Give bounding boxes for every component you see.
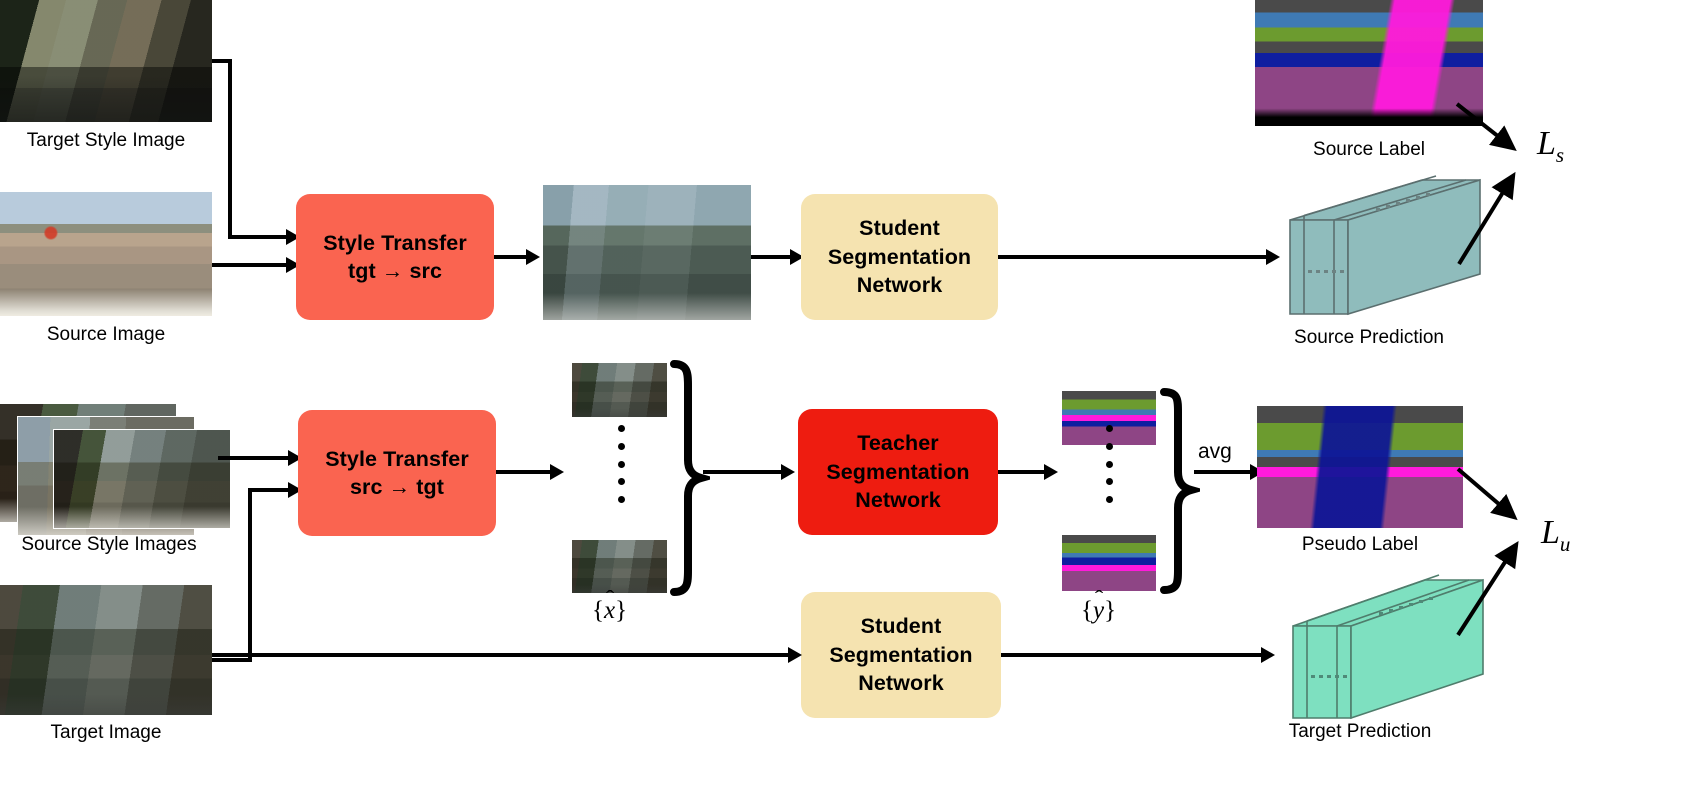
student-bottom-line3: Network — [858, 669, 944, 697]
arrowhead-student-bottom-to-target-prediction — [1261, 647, 1275, 663]
source-style-image-front[interactable] — [54, 430, 230, 528]
loss-unsupervised-symbol: L — [1541, 514, 1560, 551]
arrow-styled-stack-to-teacher — [703, 470, 783, 474]
style-transfer-tgt-to-src-box[interactable]: Style Transfer tgt → src — [296, 194, 494, 320]
target-image[interactable] — [0, 585, 212, 715]
loss-supervised-symbol: L — [1537, 125, 1556, 162]
styled-target-thumb-bottom[interactable] — [572, 540, 667, 593]
arrow-targetimage-to-styletransfer-h2 — [248, 488, 290, 492]
teacher-prediction-thumb-bottom[interactable] — [1062, 535, 1156, 591]
target-style-image-caption: Target Style Image — [0, 130, 212, 152]
arrowhead-styletransfer-to-styledimage — [526, 249, 540, 265]
target-prediction-caption: Target Prediction — [1257, 721, 1463, 743]
styled-source-image[interactable] — [543, 185, 751, 320]
teacher-prediction-set-label: {ˆy} — [1081, 597, 1116, 625]
styled-set-open: { — [592, 597, 604, 624]
pseudo-label-caption: Pseudo Label — [1257, 534, 1463, 556]
arrow-avg-to-pseudo-label — [1194, 470, 1252, 474]
arrowhead-styletransfer-to-styled-stack — [550, 464, 564, 480]
style-transfer-src-to-tgt-line2: src → tgt — [350, 473, 444, 501]
diagram-canvas: Target Style Image Source Image Style Tr… — [0, 0, 1687, 799]
loss-unsupervised-label: Lu — [1541, 514, 1570, 557]
arrowhead-student-top-to-source-prediction — [1266, 249, 1280, 265]
style-transfer-src-to-tgt-box[interactable]: Style Transfer src → tgt — [298, 410, 496, 536]
arrow-styletransfer-to-styled-stack — [496, 470, 552, 474]
source-label-caption: Source Label — [1255, 139, 1483, 161]
arrow-targetstyle-to-styletransfer-v — [228, 59, 232, 239]
source-image[interactable] — [0, 192, 212, 316]
loss-supervised-arrows — [1455, 80, 1575, 280]
loss-unsupervised-subscript: u — [1560, 532, 1571, 556]
styled-set-close: } — [615, 597, 627, 624]
teacher-line3: Network — [855, 486, 941, 514]
teacher-prediction-brace — [1158, 388, 1200, 594]
pred-set-hat: ˆ — [1094, 587, 1102, 610]
target-style-image[interactable] — [0, 0, 212, 122]
loss-supervised-subscript: s — [1556, 143, 1564, 167]
pseudo-label-image[interactable] — [1257, 406, 1463, 528]
teacher-prediction-ellipsis — [1105, 425, 1113, 503]
student-bottom-line1: Student — [861, 612, 942, 640]
arrow-teacher-to-prediction-stack — [998, 470, 1046, 474]
student-segmentation-network-top-box[interactable]: Student Segmentation Network — [801, 194, 998, 320]
styled-target-ellipsis — [617, 425, 625, 503]
style-transfer-tgt-to-src-line2: tgt → src — [348, 257, 442, 285]
styled-target-set-label: {ˆx} — [592, 597, 627, 625]
arrowhead-teacher-to-prediction-stack — [1044, 464, 1058, 480]
loss-supervised-label: Ls — [1537, 125, 1564, 168]
styled-target-brace — [668, 360, 710, 596]
source-image-caption: Source Image — [0, 324, 212, 346]
source-style-images-caption: Source Style Images — [0, 534, 218, 556]
source-prediction-caption: Source Prediction — [1255, 327, 1483, 349]
style-transfer-src-to-tgt-line1: Style Transfer — [325, 445, 469, 473]
student-segmentation-network-bottom-box[interactable]: Student Segmentation Network — [801, 592, 1001, 718]
arrow-styletransfer-to-styledimage — [494, 255, 528, 259]
source-label-image[interactable] — [1255, 0, 1483, 126]
arrow-sourceimage-to-styletransfer — [212, 263, 288, 267]
arrow-student-bottom-to-target-prediction — [1001, 653, 1263, 657]
pred-set-open: { — [1081, 597, 1093, 624]
style-transfer-tgt-to-src-line1: Style Transfer — [323, 229, 467, 257]
arrow-styledimage-to-student-top — [751, 255, 793, 259]
arrow-targetimage-to-styletransfer-h1 — [212, 658, 252, 662]
arrow-targetimage-to-student-bottom — [212, 653, 790, 657]
arrowhead-styled-stack-to-teacher — [781, 464, 795, 480]
styled-set-hat: ˆ — [605, 587, 613, 610]
student-top-line3: Network — [857, 271, 943, 299]
teacher-line1: Teacher — [857, 429, 939, 457]
pred-set-close: } — [1104, 597, 1116, 624]
avg-edge-label: avg — [1198, 440, 1232, 464]
student-top-line1: Student — [859, 214, 940, 242]
arrowhead-targetimage-to-student-bottom — [788, 647, 802, 663]
teacher-line2: Segmentation — [826, 458, 969, 486]
arrow-student-top-to-source-prediction — [998, 255, 1268, 259]
teacher-segmentation-network-box[interactable]: Teacher Segmentation Network — [798, 409, 998, 535]
student-bottom-line2: Segmentation — [829, 641, 972, 669]
arrow-targetimage-to-styletransfer-v — [248, 488, 252, 662]
arrow-targetstyle-to-styletransfer-h2 — [228, 235, 288, 239]
target-image-caption: Target Image — [0, 722, 212, 744]
styled-target-thumb-top[interactable] — [572, 363, 667, 417]
student-top-line2: Segmentation — [828, 243, 971, 271]
arrow-sourcestyle-to-styletransfer — [218, 456, 290, 460]
